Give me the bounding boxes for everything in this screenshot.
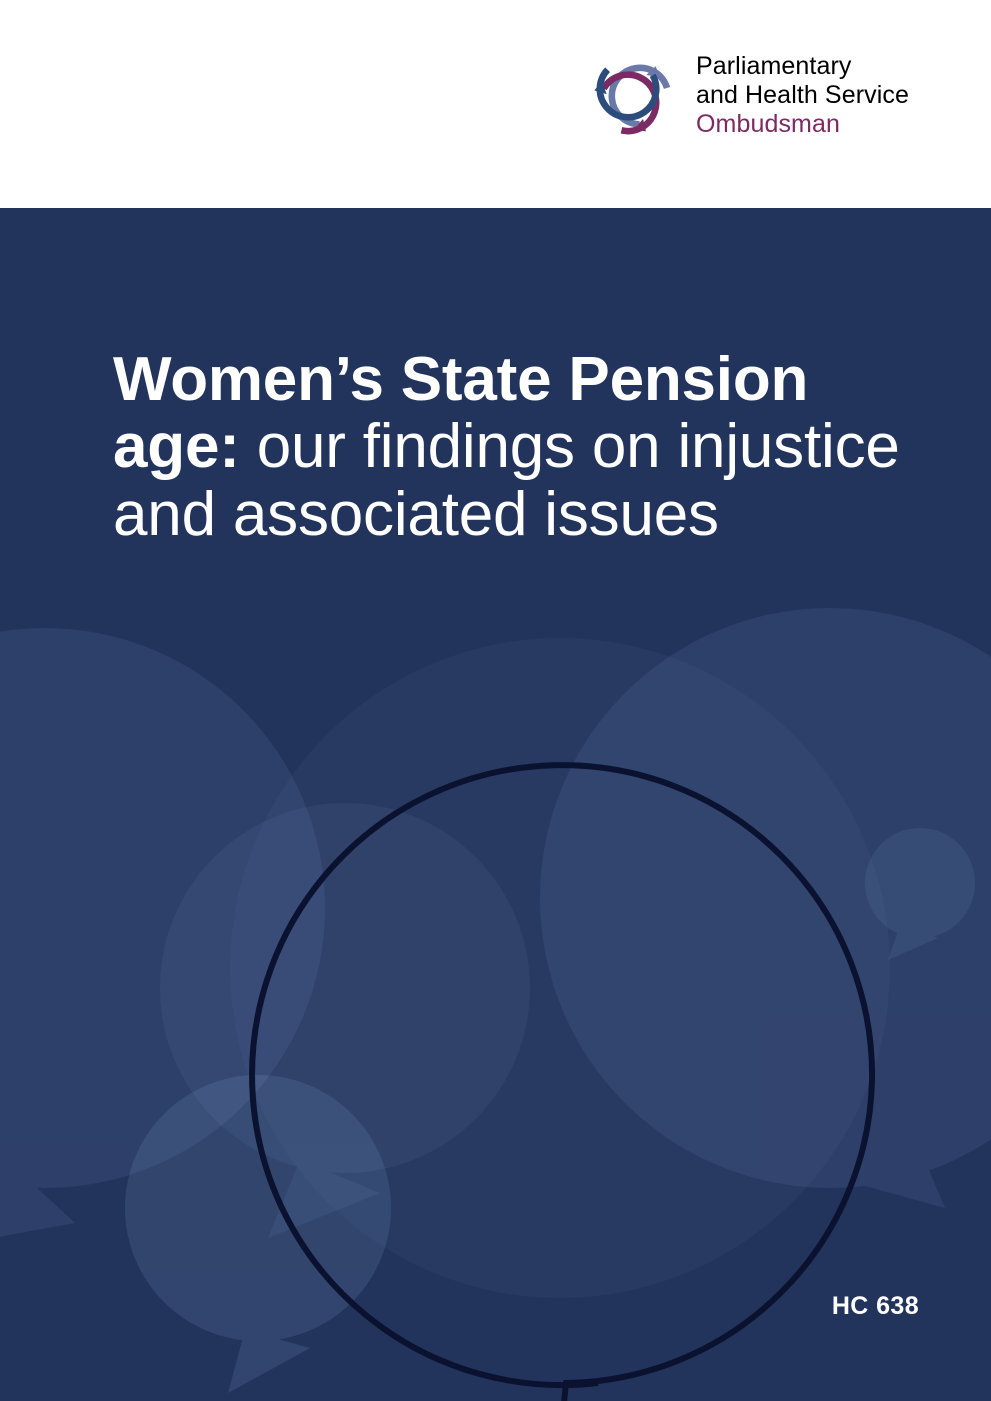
- phso-logo: Parliamentary and Health Service Ombudsm…: [585, 48, 909, 144]
- document-cover-page: Parliamentary and Health Service Ombudsm…: [0, 0, 991, 1401]
- header-band: Parliamentary and Health Service Ombudsm…: [0, 0, 991, 208]
- cover-title: Women’s State Pension age: our findings …: [113, 346, 913, 549]
- cover-navy-panel: Women’s State Pension age: our findings …: [0, 208, 991, 1401]
- phso-circular-arrows-logo-icon: [585, 48, 679, 144]
- logo-line-and-health-service: and Health Service: [696, 81, 909, 110]
- phso-logo-wordmark: Parliamentary and Health Service Ombudsm…: [696, 48, 909, 139]
- decorative-bubble-centre-wash: [230, 638, 890, 1298]
- logo-line-parliamentary: Parliamentary: [696, 52, 909, 81]
- house-of-commons-paper-number: HC 638: [832, 1292, 919, 1321]
- logo-line-ombudsman: Ombudsman: [696, 110, 909, 139]
